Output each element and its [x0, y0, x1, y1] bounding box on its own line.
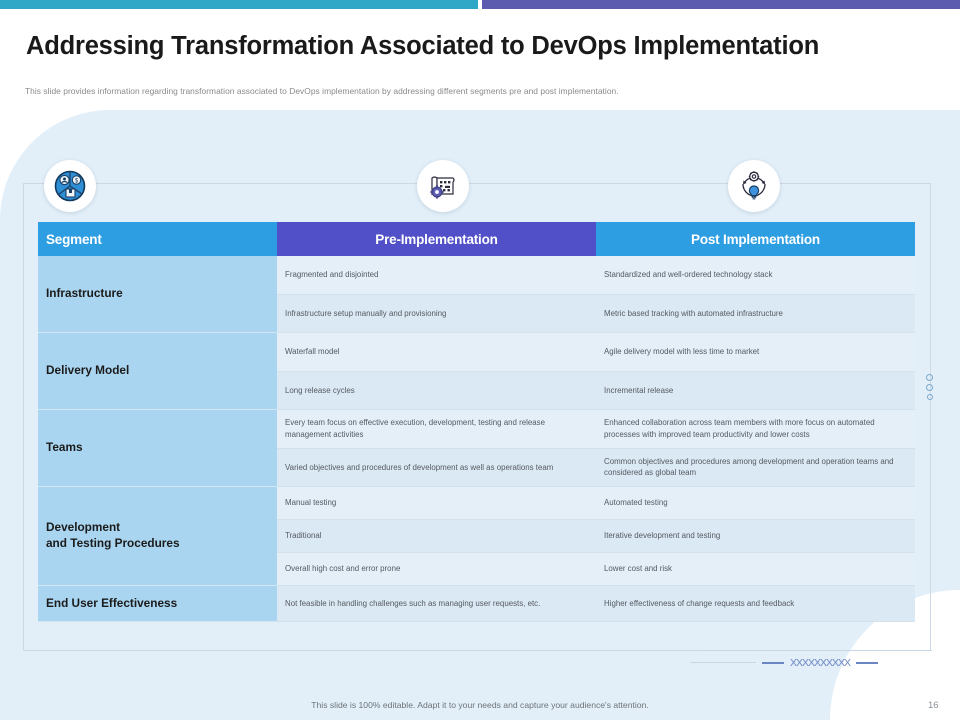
post-implementation-cell: Higher effectiveness of change requests … [596, 586, 915, 622]
segment-label-cell: End User Effectiveness [38, 586, 277, 622]
column-header-pre-implementation: Pre-Implementation [277, 222, 596, 256]
post-implementation-cell: Common objectives and procedures among d… [596, 449, 915, 488]
deco-line-right [856, 662, 878, 664]
footer-note: This slide is 100% editable. Adapt it to… [0, 700, 960, 710]
pre-implementation-cell: Long release cycles [277, 372, 596, 411]
table-header-row: Segment Pre-Implementation Post Implemen… [38, 222, 915, 256]
post-implementation-cell: Agile delivery model with less time to m… [596, 333, 915, 372]
page-number: 16 [928, 700, 939, 711]
post-implementation-cell: Standardized and well-ordered technology… [596, 256, 915, 295]
pre-implementation-cell: Fragmented and disjointed [277, 256, 596, 295]
segment-column: InfrastructureDelivery ModelTeamsDevelop… [38, 256, 277, 622]
post-implementation-cell: Incremental release [596, 372, 915, 411]
dot-icon [927, 394, 933, 400]
comparison-table: Segment Pre-Implementation Post Implemen… [38, 222, 915, 622]
segment-label: Infrastructure [46, 286, 123, 302]
idea-process-icon [728, 160, 780, 212]
pre-implementation-cell: Infrastructure setup manually and provis… [277, 295, 596, 334]
segment-label: End User Effectiveness [46, 596, 177, 612]
pre-implementation-cell: Manual testing [277, 487, 596, 520]
table-body: InfrastructureDelivery ModelTeamsDevelop… [38, 256, 915, 622]
column-header-post-implementation: Post Implementation [596, 222, 915, 256]
pre-implementation-column: Fragmented and disjointedInfrastructure … [277, 256, 596, 622]
deco-line-left [762, 662, 784, 664]
bottom-x-decoration: XXXXXXXXXX [762, 657, 878, 669]
pre-implementation-cell: Traditional [277, 520, 596, 553]
segment-label: Teams [46, 440, 83, 456]
side-dots-decoration [926, 374, 933, 400]
post-implementation-column: Standardized and well-ordered technology… [596, 256, 915, 622]
blueprint-gear-icon [417, 160, 469, 212]
pre-implementation-cell: Not feasible in handling challenges such… [277, 586, 596, 622]
post-implementation-cell: Iterative development and testing [596, 520, 915, 553]
column-header-segment: Segment [38, 222, 277, 256]
bottom-rule-decoration-2 [690, 662, 756, 663]
post-implementation-cell: Metric based tracking with automated inf… [596, 295, 915, 334]
global-business-icon: $ [44, 160, 96, 212]
pre-implementation-cell: Waterfall model [277, 333, 596, 372]
pre-implementation-cell: Varied objectives and procedures of deve… [277, 449, 596, 488]
segment-label-cell: Infrastructure [38, 256, 277, 333]
segment-label-cell: Delivery Model [38, 333, 277, 410]
page-subtitle: This slide provides information regardin… [25, 86, 619, 96]
segment-label: Development and Testing Procedures [46, 520, 180, 552]
pre-implementation-cell: Overall high cost and error prone [277, 553, 596, 586]
post-implementation-cell: Enhanced collaboration across team membe… [596, 410, 915, 449]
segment-label-cell: Development and Testing Procedures [38, 487, 277, 586]
segment-label-cell: Teams [38, 410, 277, 487]
deco-x-text: XXXXXXXXXX [790, 657, 850, 669]
top-accent-bar-right [482, 0, 960, 9]
dot-icon [926, 384, 933, 391]
top-accent-bar [0, 0, 960, 9]
post-implementation-cell: Automated testing [596, 487, 915, 520]
segment-label: Delivery Model [46, 363, 129, 379]
page-title: Addressing Transformation Associated to … [26, 32, 819, 61]
pre-implementation-cell: Every team focus on effective execution,… [277, 410, 596, 449]
dot-icon [926, 374, 933, 381]
top-accent-bar-left [0, 0, 478, 9]
bottom-rule-decoration [700, 650, 932, 651]
post-implementation-cell: Lower cost and risk [596, 553, 915, 586]
